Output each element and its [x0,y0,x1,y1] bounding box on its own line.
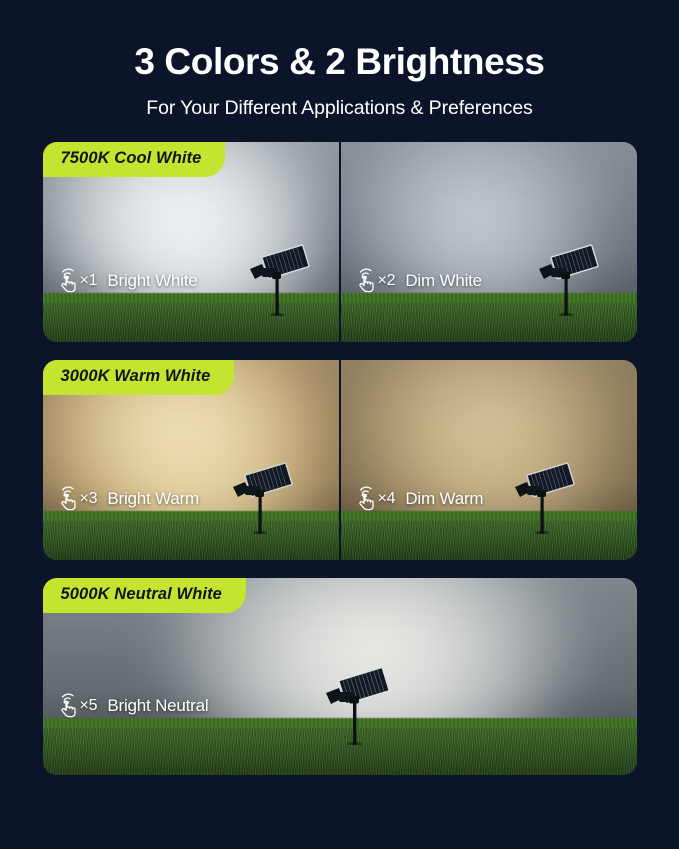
tap-gesture-icon [355,486,377,512]
grass-strip [341,516,637,560]
caption-dim-white: ×2 Dim White [355,268,482,294]
solar-spotlight-fixture [537,242,599,316]
tap-count: ×2 [378,272,396,290]
solar-spotlight-fixture [248,242,310,316]
mode-label: Bright Warm [107,489,199,509]
badge-warm-white: 3000K Warm White [43,360,235,395]
scene-dim-white: ×2 Dim White [339,142,637,342]
solar-spotlight-fixture [513,460,575,534]
mode-row-cool-white: ×1 Bright White [43,142,637,342]
tap-count: ×4 [378,490,396,508]
mode-row-warm-white: ×3 Bright Warm [43,360,637,560]
solar-spotlight-fixture [324,665,390,745]
solar-spotlight-svg [513,460,575,534]
caption-bright-neutral: ×5 Bright Neutral [57,693,209,719]
scene-dim-warm: ×4 Dim Warm [339,360,637,560]
caption-dim-warm: ×4 Dim Warm [355,486,484,512]
page-header: 3 Colors & 2 Brightness For Your Differe… [0,0,679,120]
tap-gesture-icon [355,268,377,294]
badge-cool-white: 7500K Cool White [43,142,226,177]
mode-row-neutral-white: ×5 Bright Neutral 5000K Neutral White [43,578,637,775]
mode-label: Dim White [405,271,482,291]
caption-bright-white: ×1 Bright White [57,268,198,294]
tap-gesture-icon [57,268,79,294]
tap-count: ×3 [80,490,98,508]
solar-spotlight-svg [537,242,599,316]
mode-label: Bright Neutral [107,696,208,716]
tap-gesture-icon [57,693,79,719]
mode-label: Bright White [107,271,197,291]
mode-label: Dim Warm [405,489,483,509]
badge-neutral-white: 5000K Neutral White [43,578,246,613]
page-title: 3 Colors & 2 Brightness [0,42,679,83]
tap-count: ×1 [80,272,98,290]
grass-strip [43,516,339,560]
color-mode-rows: ×1 Bright White [0,142,679,775]
page-subtitle: For Your Different Applications & Prefer… [0,97,679,120]
tap-count: ×5 [80,697,98,715]
solar-spotlight-svg [248,242,310,316]
solar-spotlight-svg [324,665,390,745]
solar-spotlight-svg [231,460,293,534]
solar-spotlight-fixture [231,460,293,534]
caption-bright-warm: ×3 Bright Warm [57,486,199,512]
tap-gesture-icon [57,486,79,512]
